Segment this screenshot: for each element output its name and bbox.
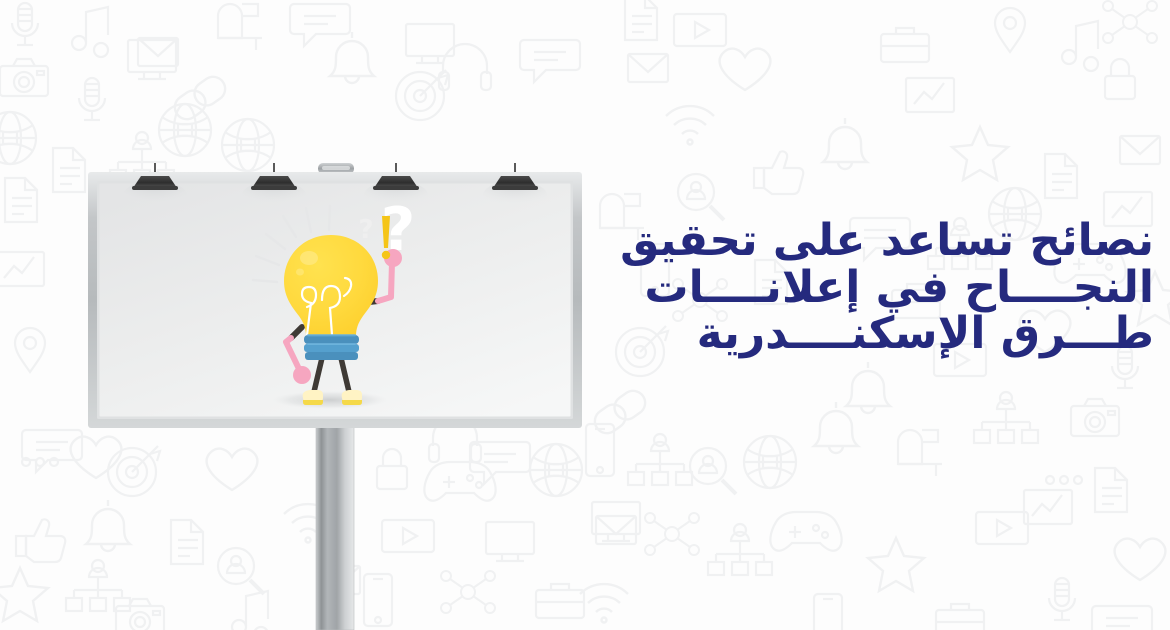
poster-canvas: ? ?	[0, 0, 1170, 630]
billboard-pole	[316, 424, 354, 630]
mascot-left-hand	[293, 366, 311, 384]
bulb-highlight	[300, 251, 318, 265]
ghost-question-mark-icon: ?	[358, 215, 373, 245]
headline-line-1: نصائح تساعد على تحقيق	[574, 218, 1154, 265]
mascot-shadow	[272, 391, 388, 409]
headline-text-block: نصائح تساعد على تحقيق النجــــاح في إعلا…	[574, 218, 1154, 358]
headline-line-2: النجــــاح في إعلانــــات	[574, 265, 1154, 312]
bulb-base	[304, 334, 359, 360]
headline-line-3: طـــرق الإسكنــــدرية	[574, 311, 1154, 358]
